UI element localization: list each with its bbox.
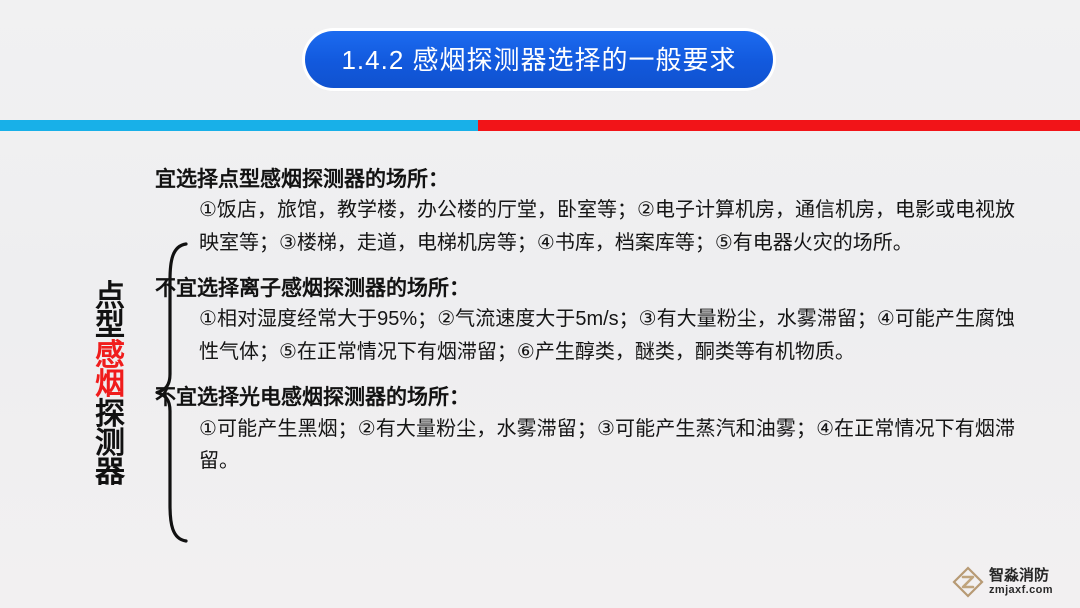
vertical-label-char-highlight: 烟: [95, 370, 125, 399]
section-unsuitable-ionization-smoke: 不宜选择离子感烟探测器的场所： ①相对湿度经常大于95%；②气流速度大于5m/s…: [155, 275, 1015, 368]
vertical-label-char: 点: [95, 282, 125, 311]
section-heading: 宜选择点型感烟探测器的场所：: [155, 166, 1015, 194]
section-body: ①相对湿度经常大于95%；②气流速度大于5m/s；③有大量粉尘，水雾滞留；④可能…: [199, 303, 1015, 368]
section-body: ①饭店，旅馆，教学楼，办公楼的厅堂，卧室等；②电子计算机房，通信机房，电影或电视…: [199, 194, 1015, 259]
vertical-label-char: 测: [95, 429, 125, 458]
watermark-text-group: 智淼消防 zmjaxf.com: [989, 568, 1053, 596]
section-spacer: [155, 259, 1015, 275]
vertical-label-char: 型: [95, 311, 125, 340]
section-body: ①可能产生黑烟；②有大量粉尘，水雾滞留；③可能产生蒸汽和油雾；④在正常情况下有烟…: [199, 413, 1015, 478]
vertical-label-char: 探: [95, 400, 125, 429]
section-heading: 不宜选择离子感烟探测器的场所：: [155, 275, 1015, 303]
diamond-z-logo-icon: [952, 566, 984, 598]
section-unsuitable-photoelectric-smoke: 不宜选择光电感烟探测器的场所： ①可能产生黑烟；②有大量粉尘，水雾滞留；③可能产…: [155, 384, 1015, 477]
header-divider: [0, 120, 1080, 131]
vertical-label-char-highlight: 感: [95, 341, 125, 370]
slide-title-pill: 1.4.2 感烟探测器选择的一般要求: [305, 31, 773, 88]
divider-segment-left: [0, 120, 478, 131]
vertical-label-char: 器: [95, 458, 125, 487]
watermark-logo: 智淼消防 zmjaxf.com: [952, 566, 1053, 598]
divider-segment-right: [478, 120, 1080, 131]
slide-canvas: 1.4.2 感烟探测器选择的一般要求 点 型 感 烟 探 测 器 宜选择点型感烟…: [0, 0, 1080, 608]
section-heading: 不宜选择光电感烟探测器的场所：: [155, 384, 1015, 412]
watermark-brand-name: 智淼消防: [989, 568, 1053, 583]
content-body: 宜选择点型感烟探测器的场所： ①饭店，旅馆，教学楼，办公楼的厅堂，卧室等；②电子…: [155, 166, 1015, 477]
page-title: 1.4.2 感烟探测器选择的一般要求: [341, 47, 736, 73]
section-spacer: [155, 368, 1015, 384]
watermark-url: zmjaxf.com: [989, 585, 1053, 596]
section-suitable-point-smoke: 宜选择点型感烟探测器的场所： ①饭店，旅馆，教学楼，办公楼的厅堂，卧室等；②电子…: [155, 166, 1015, 259]
vertical-category-label: 点 型 感 烟 探 测 器: [88, 282, 132, 488]
